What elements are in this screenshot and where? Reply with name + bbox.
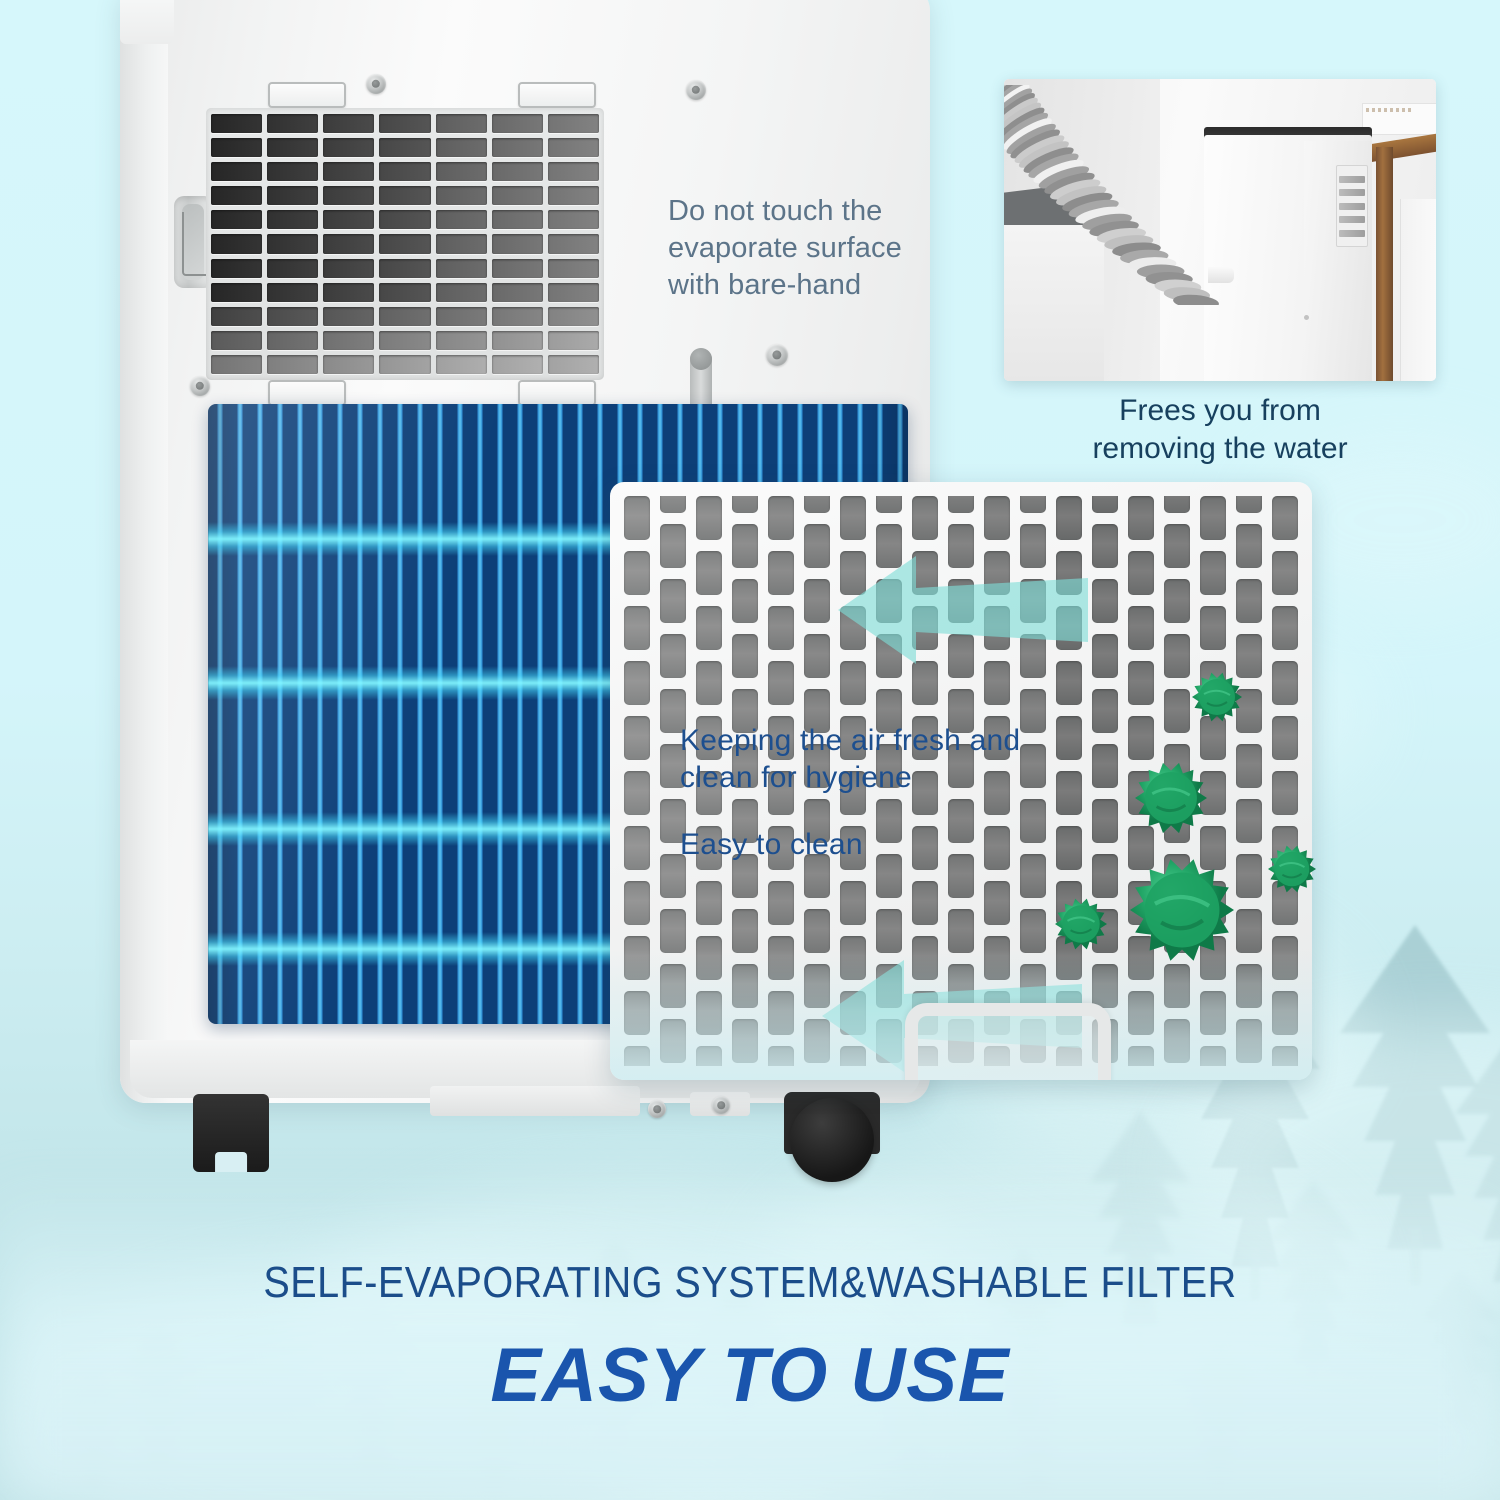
louver-slot [323,355,374,374]
filter-slot [1056,496,1082,540]
filter-slot [1236,634,1262,678]
louver-slot [211,210,262,229]
virus-germ-icon [1135,762,1207,834]
louver-slot [211,162,262,181]
filter-slot [912,881,938,925]
louver-slot [267,234,318,253]
filter-slot [1272,551,1298,595]
product-marketing-image: Do not touch the evaporate surface with … [0,0,1500,1500]
hygiene-caption: Keeping the air fresh and clean for hygi… [680,722,1100,796]
filter-slot [1020,854,1046,898]
louver-slot [548,307,599,326]
filter-slot [1128,716,1154,760]
headline-title: EASY TO USE [0,1332,1500,1419]
grille-clip-top-right [518,82,596,108]
filter-slot [696,661,722,705]
filter-slot [624,826,650,870]
hygiene-line-2: clean for hygiene [680,759,1100,796]
filter-slot [696,551,722,595]
filter-slot [696,606,722,650]
filter-slot [1272,496,1298,540]
filter-slot [1092,524,1118,568]
filter-slot [948,799,974,843]
louver-slot [492,355,543,374]
louver-slot [379,307,430,326]
louver-slot [436,162,487,181]
screw-icon [686,80,706,100]
filter-slot [1128,496,1154,540]
filter-slot [876,909,902,953]
filter-slot [840,496,866,540]
filter-slot [1092,854,1118,898]
filter-slot [1164,579,1190,623]
louver-slot [379,162,430,181]
louver-slot [379,259,430,278]
louver-slot [323,138,374,157]
virus-germ-icon [1268,845,1316,893]
louver-slot [211,114,262,133]
louver-slot [267,138,318,157]
grille-clip-bottom-right [518,380,596,406]
louver-slot [436,331,487,350]
louver-slot [548,355,599,374]
louver-slot [267,259,318,278]
louver-slot [548,162,599,181]
filter-slot [1164,524,1190,568]
filter-slot [804,909,830,953]
top-intake-louver-grille [206,108,604,380]
photo-table-leg [1376,147,1393,381]
louver-slot [267,307,318,326]
louver-slot [436,355,487,374]
filter-slot [732,634,758,678]
warning-line-2: evaporate surface [668,230,968,267]
filter-handle[interactable] [905,1003,1111,1080]
louver-slot [211,283,262,302]
louver-slot [436,114,487,133]
filter-slot [1128,606,1154,650]
louver-slot [492,307,543,326]
louver-slot [548,331,599,350]
louver-slot [267,210,318,229]
louver-slot [211,307,262,326]
louver-slot [379,114,430,133]
filter-slot [696,881,722,925]
louver-slot [211,234,262,253]
louver-slot [548,138,599,157]
louver-slot [211,355,262,374]
filter-slot [696,496,722,540]
louver-slot [211,259,262,278]
filter-slot [768,551,794,595]
filter-slot [1236,496,1262,513]
screw-icon [366,74,386,94]
louver-slot [379,283,430,302]
filter-slot [732,909,758,953]
filter-slot [624,881,650,925]
screw-icon [766,344,788,366]
filter-slot [732,496,758,513]
caster-wheel-left [193,1094,269,1172]
filter-slot [1236,854,1262,898]
filter-slot [1200,551,1226,595]
louver-slot [548,234,599,253]
filter-slot [1272,606,1298,650]
filter-slot [876,854,902,898]
louver-slot [323,162,374,181]
louver-slot [211,138,262,157]
louver-slot [436,307,487,326]
filter-slot [912,826,938,870]
louver-slot [436,259,487,278]
filter-slot [804,579,830,623]
filter-slot [948,854,974,898]
filter-slot [1236,524,1262,568]
louver-slot [492,234,543,253]
filter-slot [1272,771,1298,815]
filter-slot [1128,551,1154,595]
filter-slot [984,496,1010,540]
filter-slot [660,579,686,623]
filter-slot [984,881,1010,925]
louver-slot [436,234,487,253]
frees-line-1: Frees you from [1004,392,1436,430]
filter-slot [876,799,902,843]
filter-slot [1092,579,1118,623]
filter-slot [1236,579,1262,623]
louver-slot [492,138,543,157]
filter-slot [768,496,794,540]
filter-slot [624,716,650,760]
louver-slot [267,114,318,133]
self-evaporating-caption: Frees you from removing the water [1004,392,1436,469]
louver-slot [267,186,318,205]
louver-slot [548,186,599,205]
filter-slot [804,524,830,568]
filter-slot [1164,689,1190,733]
filter-slot [1020,909,1046,953]
photo-ac-indicator [1304,315,1309,320]
filter-slot [1164,496,1190,513]
louver-slot [548,114,599,133]
filter-slot [660,909,686,953]
filter-slot [768,661,794,705]
filter-slot [1092,799,1118,843]
frees-line-2: removing the water [1004,430,1436,468]
filter-slot [768,881,794,925]
filter-slot [804,634,830,678]
virus-germ-icon [1192,672,1242,722]
louver-slot [436,283,487,302]
warning-line-1: Do not touch the [668,193,968,230]
louver-slot [379,210,430,229]
louver-slot [436,210,487,229]
louver-slot [379,138,430,157]
louver-slot [323,307,374,326]
louver-slot [211,331,262,350]
louver-slot [323,331,374,350]
filter-slot [840,881,866,925]
louver-slot [492,210,543,229]
screw-icon [712,1096,730,1114]
grille-clip-top-left [268,82,346,108]
louver-slot [323,259,374,278]
filter-slot [1092,634,1118,678]
photo-shelf-items [1366,108,1412,112]
louver-slot [267,283,318,302]
louver-slot [436,186,487,205]
filter-slot [1236,744,1262,788]
screw-icon [648,1100,666,1118]
filter-slot [624,771,650,815]
ac-unit-top-notch [120,0,174,44]
filter-slot [1200,496,1226,540]
room-installation-photo [1004,79,1436,381]
caster-wheel-right [790,1098,874,1182]
filter-slot [876,496,902,513]
virus-germ-icon [1055,898,1107,950]
filter-slot [948,909,974,953]
louver-slot [379,355,430,374]
filter-slot [1272,661,1298,705]
filter-slot [1200,606,1226,650]
filter-slot [912,496,938,540]
louver-slot [323,234,374,253]
louver-slot [492,162,543,181]
louver-slot [323,210,374,229]
louver-slot [492,331,543,350]
filter-slot [624,661,650,705]
louver-slot [548,283,599,302]
filter-slot [660,496,686,513]
filter-slot [660,524,686,568]
filter-slot [660,634,686,678]
filter-slot [1272,716,1298,760]
filter-slot [1200,716,1226,760]
headline-subtitle: SELF-EVAPORATING SYSTEM&WASHABLE FILTER [75,1258,1425,1308]
louver-slot [323,283,374,302]
louver-slot [492,114,543,133]
louver-slot [492,283,543,302]
louver-slot [323,186,374,205]
filter-slot [1236,909,1262,953]
filter-slot [1128,661,1154,705]
filter-slot [624,551,650,595]
filter-slot [1164,634,1190,678]
arrow-left-icon [838,548,1088,672]
filter-slot [984,826,1010,870]
grille-clip-bottom-left [268,380,346,406]
louver-slot [436,138,487,157]
ac-unit-left-edge [120,0,168,1103]
louver-slot [492,186,543,205]
filter-slot [1020,799,1046,843]
easy-to-clean-caption: Easy to clean [680,828,863,862]
louver-slot [379,234,430,253]
filter-slot [1092,496,1118,513]
photo-door [1400,199,1436,381]
filter-slot [1020,496,1046,513]
filter-slot [732,579,758,623]
filter-slot [768,606,794,650]
louver-slot [267,355,318,374]
louver-slot [379,186,430,205]
louver-slot [211,186,262,205]
filter-slot [804,496,830,513]
louver-slot [267,162,318,181]
hygiene-line-1: Keeping the air fresh and [680,722,1100,759]
louver-slot [323,114,374,133]
louver-slot [267,331,318,350]
louver-slot [548,210,599,229]
virus-germ-icon [1130,858,1234,962]
louver-slot [492,259,543,278]
filter-slot [732,524,758,568]
filter-slot [624,606,650,650]
filter-slot [1236,799,1262,843]
filter-slot [1056,826,1082,870]
filter-slot [624,496,650,540]
filter-slot [948,496,974,513]
photo-ac-vent [1336,165,1368,247]
warning-caption: Do not touch the evaporate surface with … [668,193,968,304]
photo-exhaust-hose [1004,85,1220,305]
louver-slot [379,331,430,350]
warning-line-3: with bare-hand [668,267,968,304]
base-tab [430,1086,640,1116]
louver-slot [548,259,599,278]
